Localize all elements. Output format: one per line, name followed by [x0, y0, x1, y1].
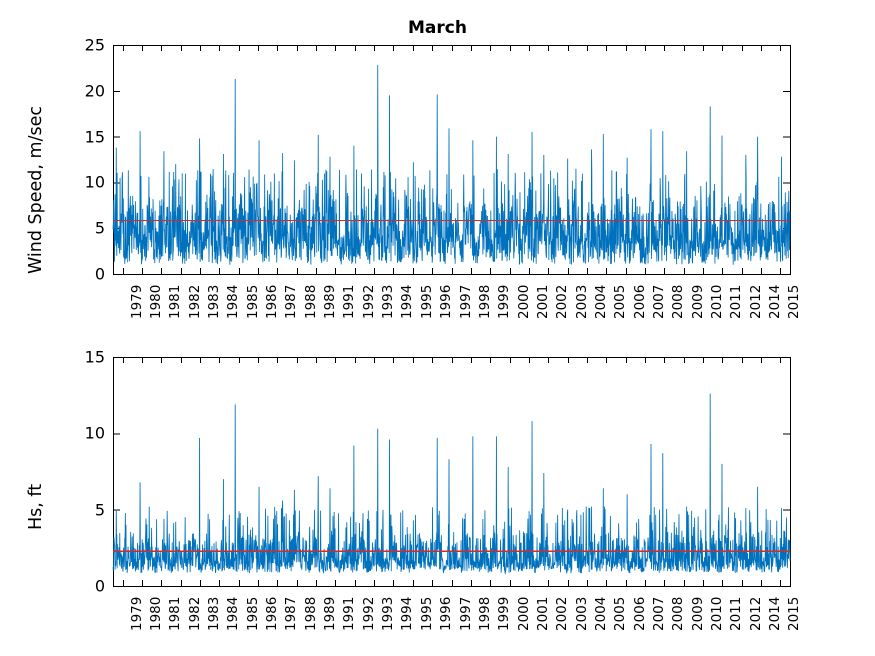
x-tick-label: 1991 [341, 597, 357, 631]
x-tick-label: 1994 [399, 285, 415, 319]
x-tick-label: 1997 [458, 285, 474, 319]
x-tick-label: 1987 [283, 597, 299, 631]
x-tick-label: 1988 [303, 597, 319, 631]
x-tick-label: 2010 [709, 597, 725, 631]
x-tick-label: 1996 [438, 285, 454, 319]
x-tick-label: 1979 [129, 285, 145, 319]
x-tick-label: 2002 [554, 285, 570, 319]
x-tick-label: 1989 [322, 285, 338, 319]
x-tick-label: 1999 [496, 597, 512, 631]
x-tick-label: 2004 [593, 285, 609, 319]
x-tick-label: 2014 [767, 597, 783, 631]
x-tick-label: 2000 [516, 285, 532, 319]
x-tick-label: 1985 [245, 597, 261, 631]
y-tick-label: 15 [55, 348, 105, 367]
x-tick-label: 2015 [786, 597, 802, 631]
x-tick-label: 2012 [748, 285, 764, 319]
y-tick-label: 20 [55, 81, 105, 100]
x-tick-label: 1997 [458, 597, 474, 631]
y-tick-label: 5 [55, 219, 105, 238]
x-tick-label: 2015 [786, 285, 802, 319]
x-tick-label: 2007 [651, 285, 667, 319]
x-tick-label: 1998 [477, 597, 493, 631]
x-tick-label: 1992 [361, 285, 377, 319]
y-tick-label: 10 [55, 173, 105, 192]
x-tick-label: 2009 [690, 597, 706, 631]
x-tick-label: 2011 [728, 285, 744, 319]
y-tick-label: 15 [55, 127, 105, 146]
x-tick-label: 2003 [574, 285, 590, 319]
x-tick-label: 1999 [496, 285, 512, 319]
x-tick-label: 2000 [516, 597, 532, 631]
x-tick-label: 2009 [690, 285, 706, 319]
x-tick-label: 2005 [612, 285, 628, 319]
x-tick-label: 1985 [245, 285, 261, 319]
x-tick-label: 1980 [148, 597, 164, 631]
x-tick-label: 1991 [341, 285, 357, 319]
x-tick-label: 2005 [612, 597, 628, 631]
x-tick-label: 1979 [129, 597, 145, 631]
x-tick-label: 1996 [438, 597, 454, 631]
x-tick-label: 1984 [225, 285, 241, 319]
x-tick-label: 1993 [380, 285, 396, 319]
y-tick-label: 5 [55, 500, 105, 519]
x-tick-label: 2002 [554, 597, 570, 631]
x-tick-label: 2006 [632, 285, 648, 319]
x-tick-label: 2012 [748, 597, 764, 631]
x-tick-label: 2011 [728, 597, 744, 631]
x-tick-label: 1995 [419, 597, 435, 631]
figure-canvas: March Wind Speed, m/sec Hs, ft 051015202… [0, 0, 875, 656]
x-tick-label: 2001 [535, 597, 551, 631]
x-tick-label: 2006 [632, 597, 648, 631]
x-tick-label: 1983 [206, 597, 222, 631]
y-tick-label: 0 [55, 265, 105, 284]
y-tick-label: 25 [55, 36, 105, 55]
x-tick-label: 1980 [148, 285, 164, 319]
x-tick-label: 1981 [167, 597, 183, 631]
x-tick-label: 2008 [670, 597, 686, 631]
x-tick-label: 2008 [670, 285, 686, 319]
x-tick-label: 1998 [477, 285, 493, 319]
x-tick-label: 2010 [709, 285, 725, 319]
y-tick-label: 0 [55, 577, 105, 596]
x-tick-label: 1982 [187, 597, 203, 631]
x-tick-label: 1986 [264, 285, 280, 319]
x-tick-label: 1986 [264, 597, 280, 631]
x-tick-label: 1994 [399, 597, 415, 631]
x-tick-label: 1995 [419, 285, 435, 319]
x-tick-label: 1984 [225, 597, 241, 631]
y-tick-label: 10 [55, 424, 105, 443]
x-tick-label: 1992 [361, 597, 377, 631]
x-tick-label: 2007 [651, 597, 667, 631]
x-tick-label: 1983 [206, 285, 222, 319]
x-tick-label: 1987 [283, 285, 299, 319]
x-tick-label: 2003 [574, 597, 590, 631]
x-tick-label: 2004 [593, 597, 609, 631]
x-tick-label: 1993 [380, 597, 396, 631]
x-tick-label: 2001 [535, 285, 551, 319]
x-tick-label: 1982 [187, 285, 203, 319]
x-tick-label: 2014 [767, 285, 783, 319]
x-tick-label: 1988 [303, 285, 319, 319]
x-tick-label: 1989 [322, 597, 338, 631]
x-tick-label: 1981 [167, 285, 183, 319]
